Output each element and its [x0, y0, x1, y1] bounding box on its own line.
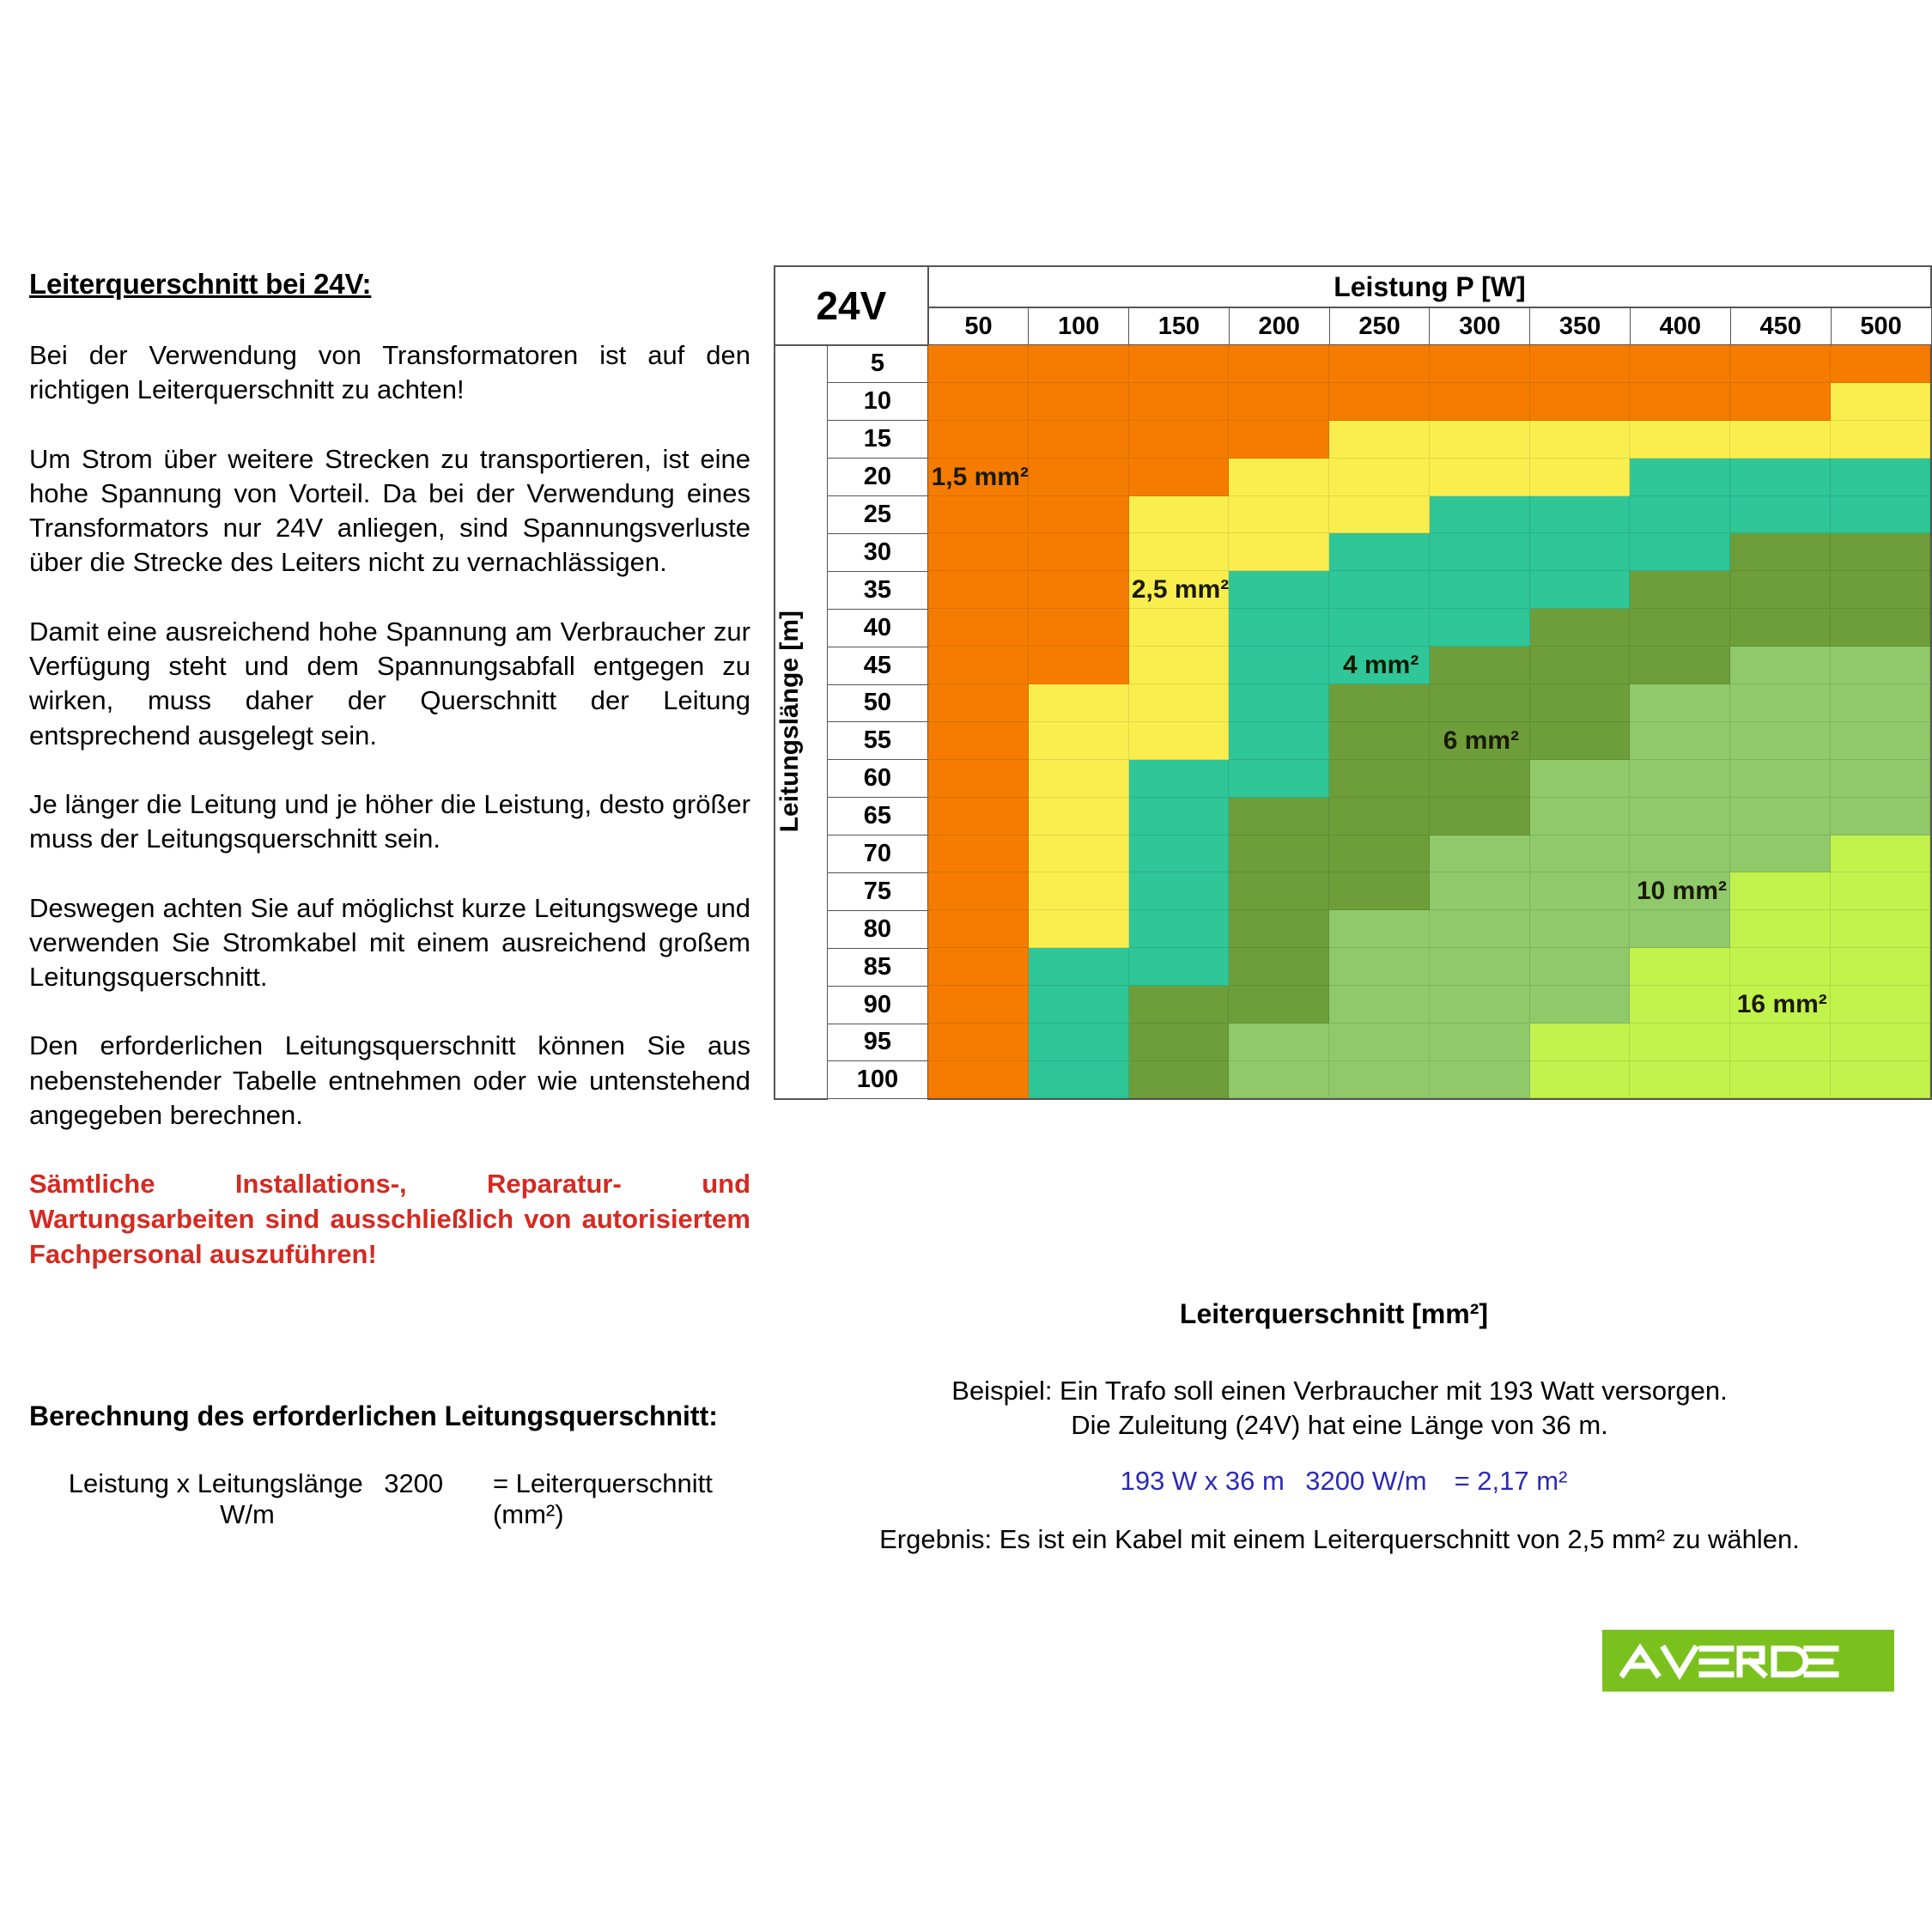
matrix-cell	[928, 571, 1029, 609]
matrix-cell	[1530, 345, 1631, 383]
matrix-cell	[1730, 383, 1831, 421]
example-line-1: Beispiel: Ein Trafo soll einen Verbrauch…	[859, 1374, 1820, 1408]
length-row-header: 50	[827, 684, 928, 722]
matrix-cell	[928, 345, 1029, 383]
matrix-cell	[1430, 798, 1530, 835]
matrix-cell	[1229, 1061, 1329, 1099]
matrix-cell	[928, 986, 1029, 1024]
power-header-title: Leistung P [W]	[928, 266, 1931, 307]
matrix-cell	[928, 910, 1029, 948]
matrix-cell	[1831, 872, 1931, 910]
matrix-cell	[1229, 496, 1329, 534]
voltage-header: 24V	[775, 266, 928, 345]
matrix-cell	[1329, 383, 1430, 421]
matrix-cell	[1831, 798, 1931, 835]
matrix-cell	[1530, 872, 1631, 910]
length-row-header: 45	[827, 647, 928, 684]
table-row: 85	[775, 948, 1931, 986]
matrix-cell	[1630, 684, 1730, 722]
matrix-cell	[1329, 533, 1430, 571]
matrix-cell	[928, 647, 1029, 684]
matrix-cell	[1229, 684, 1329, 722]
matrix-cell	[928, 684, 1029, 722]
matrix-cell	[1129, 383, 1230, 421]
matrix-cell	[1730, 421, 1831, 459]
matrix-cell	[1029, 609, 1129, 647]
matrix-cell	[1730, 760, 1831, 798]
matrix-cell	[1029, 345, 1129, 383]
matrix-cell	[1430, 496, 1530, 534]
matrix-cell	[1329, 459, 1430, 496]
matrix-cell	[1730, 948, 1831, 986]
matrix-cell	[928, 1061, 1029, 1099]
power-column-header: 500	[1831, 307, 1931, 345]
matrix-cell	[1430, 986, 1530, 1024]
matrix-cell	[1129, 609, 1230, 647]
length-row-header: 40	[827, 609, 928, 647]
matrix-cell	[928, 1024, 1029, 1061]
matrix-cell	[1630, 459, 1730, 496]
example-result-text: Ergebnis: Es ist ein Kabel mit einem Lei…	[859, 1522, 1820, 1557]
table-row: 95	[775, 1024, 1931, 1061]
matrix-cell	[1329, 910, 1430, 948]
matrix-cell	[928, 421, 1029, 459]
matrix-cell	[1430, 459, 1530, 496]
matrix-cell	[1029, 533, 1129, 571]
matrix-cell	[1229, 571, 1329, 609]
paragraph-6: Den erforderlichen Leitungsquerschnitt k…	[29, 1029, 750, 1133]
matrix-cell	[1229, 345, 1329, 383]
matrix-cell	[1229, 647, 1329, 684]
table-row: 454 mm²	[775, 647, 1931, 684]
matrix-cell	[1730, 1061, 1831, 1099]
matrix-cell	[1831, 345, 1931, 383]
matrix-cell	[1329, 1061, 1430, 1099]
matrix-cell	[928, 798, 1029, 835]
matrix-cell	[1229, 798, 1329, 835]
matrix-cell	[1329, 986, 1430, 1024]
matrix-cell	[1129, 910, 1230, 948]
matrix-cell	[1831, 647, 1931, 684]
matrix-cell	[1430, 609, 1530, 647]
power-column-header: 150	[1129, 307, 1230, 345]
power-column-header: 250	[1329, 307, 1430, 345]
fraction-numerator: Leistung x Leitungslänge	[60, 1468, 372, 1502]
matrix-cell	[1029, 948, 1129, 986]
table-row: 352,5 mm²	[775, 571, 1931, 609]
matrix-cell	[1730, 684, 1831, 722]
length-row-header: 80	[827, 910, 928, 948]
matrix-cell: 10 mm²	[1630, 872, 1730, 910]
matrix-cell	[1630, 647, 1730, 684]
fraction: Leistung x Leitungslänge 3200 W/m	[29, 1468, 474, 1530]
matrix-cell	[1329, 684, 1430, 722]
table-row: 70	[775, 835, 1931, 873]
matrix-cell	[1029, 798, 1129, 835]
table-row: 15	[775, 421, 1931, 459]
matrix-cell	[1229, 459, 1329, 496]
matrix-cell	[1530, 798, 1631, 835]
matrix-cell	[1430, 835, 1530, 873]
cable-cross-section-table: 24VLeistung P [W]50100150200250300350400…	[774, 265, 1932, 1100]
matrix-cell	[1630, 345, 1730, 383]
matrix-cell	[1229, 533, 1329, 571]
matrix-cell	[1530, 1061, 1631, 1099]
matrix-cell	[1129, 835, 1230, 873]
matrix-cell	[1530, 948, 1631, 986]
matrix-cell	[1730, 571, 1831, 609]
matrix-cell	[1530, 684, 1631, 722]
matrix-cell	[1831, 760, 1931, 798]
calculation-block: Berechnung des erforderlichen Leitungsqu…	[29, 1400, 785, 1530]
matrix-cell	[1530, 383, 1631, 421]
matrix-cell: 1,5 mm²	[928, 459, 1029, 496]
matrix-cell	[928, 609, 1029, 647]
matrix-cell	[1630, 948, 1730, 986]
matrix-cell	[1630, 609, 1730, 647]
matrix-cell	[1831, 1024, 1931, 1061]
matrix-cell	[1831, 609, 1931, 647]
length-row-header: 90	[827, 986, 928, 1024]
length-row-header: 55	[827, 722, 928, 760]
length-row-header: 30	[827, 533, 928, 571]
table-row: 50	[775, 684, 1931, 722]
matrix-cell	[1831, 835, 1931, 873]
power-column-header: 200	[1229, 307, 1329, 345]
matrix-cell	[1831, 684, 1931, 722]
matrix-cell	[1630, 1061, 1730, 1099]
matrix-cell	[1329, 1024, 1430, 1061]
matrix-cell	[928, 872, 1029, 910]
matrix-cell	[1831, 383, 1931, 421]
matrix-cell	[1530, 421, 1631, 459]
matrix-cell	[1630, 533, 1730, 571]
example-formula-result: = 2,17 m²	[1436, 1466, 1568, 1497]
matrix-cell	[1630, 798, 1730, 835]
matrix-cell	[1730, 459, 1831, 496]
page-title: Leiterquerschnitt bei 24V:	[29, 268, 750, 301]
matrix-cell: 16 mm²	[1730, 986, 1831, 1024]
matrix-cell	[1630, 383, 1730, 421]
matrix-cell	[1831, 910, 1931, 948]
power-column-header: 350	[1530, 307, 1631, 345]
table-row: 100	[775, 1061, 1931, 1099]
matrix-cell	[1730, 910, 1831, 948]
calculation-formula: Leistung x Leitungslänge 3200 W/m = Leit…	[29, 1468, 785, 1530]
matrix-cell	[1229, 383, 1329, 421]
matrix-cell	[1129, 1024, 1230, 1061]
matrix-cell	[1530, 609, 1631, 647]
matrix-cell	[1831, 1061, 1931, 1099]
matrix-cell	[1831, 533, 1931, 571]
matrix-cell: 4 mm²	[1329, 647, 1430, 684]
length-row-header: 20	[827, 459, 928, 496]
paragraph-5: Deswegen achten Sie auf möglichst kurze …	[29, 891, 750, 995]
matrix-table: 24VLeistung P [W]50100150200250300350400…	[774, 265, 1932, 1100]
matrix-cell	[928, 722, 1029, 760]
table-row: 25	[775, 496, 1931, 534]
matrix-cell	[1129, 798, 1230, 835]
matrix-cell	[1329, 872, 1430, 910]
length-row-header: 35	[827, 571, 928, 609]
matrix-cell	[1029, 760, 1129, 798]
length-row-header: 25	[827, 496, 928, 534]
table-row: 80	[775, 910, 1931, 948]
matrix-cell	[1029, 1024, 1129, 1061]
matrix-cell	[1730, 835, 1831, 873]
y-axis-label-text: Leitungslänge [m]	[775, 611, 827, 832]
matrix-cell	[1730, 647, 1831, 684]
matrix-cell	[928, 835, 1029, 873]
matrix-cell	[1129, 948, 1230, 986]
length-row-header: 70	[827, 835, 928, 873]
calculation-title: Berechnung des erforderlichen Leitungsqu…	[29, 1400, 785, 1432]
matrix-cell	[1229, 872, 1329, 910]
matrix-cell	[1229, 835, 1329, 873]
averde-wordmark-icon	[1619, 1642, 1877, 1680]
matrix-cell	[928, 533, 1029, 571]
length-row-header: 10	[827, 383, 928, 421]
matrix-cell	[1329, 948, 1430, 986]
matrix-cell	[1029, 383, 1129, 421]
matrix-cell	[1831, 986, 1931, 1024]
matrix-cell	[1129, 684, 1230, 722]
matrix-cell	[1430, 345, 1530, 383]
power-column-header: 400	[1630, 307, 1730, 345]
matrix-cell	[1029, 496, 1129, 534]
matrix-cell	[1831, 571, 1931, 609]
matrix-cell	[1029, 722, 1129, 760]
matrix-cell	[1430, 421, 1530, 459]
matrix-cell	[1430, 1061, 1530, 1099]
table-row: 7510 mm²	[775, 872, 1931, 910]
matrix-cell	[1831, 496, 1931, 534]
matrix-cell	[928, 383, 1029, 421]
matrix-cell	[1029, 835, 1129, 873]
matrix-cell	[1630, 910, 1730, 948]
matrix-cell	[1329, 609, 1430, 647]
matrix-cell	[1831, 722, 1931, 760]
example-fraction: 193 W x 36 m 3200 W/m	[1112, 1466, 1436, 1497]
table-row: 60	[775, 760, 1931, 798]
power-column-header: 300	[1430, 307, 1530, 345]
matrix-cell	[1329, 421, 1430, 459]
matrix-cell	[1530, 835, 1631, 873]
matrix-cell	[1430, 872, 1530, 910]
matrix-cell	[1430, 948, 1530, 986]
matrix-cell	[1630, 1024, 1730, 1061]
matrix-cell	[1229, 1024, 1329, 1061]
matrix-cell	[1530, 986, 1631, 1024]
matrix-cell	[1831, 421, 1931, 459]
matrix-cell	[1129, 872, 1230, 910]
example-formula: 193 W x 36 m 3200 W/m = 2,17 m²	[859, 1466, 1820, 1497]
matrix-cell	[1029, 986, 1129, 1024]
matrix-cell	[1229, 986, 1329, 1024]
matrix-cell	[1129, 722, 1230, 760]
matrix-cell	[1430, 383, 1530, 421]
intro-text-column: Leiterquerschnitt bei 24V: Bei der Verwe…	[29, 268, 750, 1273]
matrix-cell	[1430, 760, 1530, 798]
matrix-cell	[1530, 647, 1631, 684]
matrix-cell	[1229, 722, 1329, 760]
matrix-cell	[1730, 872, 1831, 910]
matrix-cell	[1430, 684, 1530, 722]
matrix-cell	[1029, 647, 1129, 684]
power-column-header: 100	[1029, 307, 1129, 345]
matrix-cell	[1229, 760, 1329, 798]
matrix-cell	[1329, 798, 1430, 835]
matrix-cell	[1430, 647, 1530, 684]
matrix-cell	[1129, 459, 1230, 496]
matrix-cell	[1329, 760, 1430, 798]
matrix-cell	[1630, 835, 1730, 873]
matrix-cell	[928, 760, 1029, 798]
matrix-cell	[1430, 1024, 1530, 1061]
matrix-cell	[1730, 533, 1831, 571]
matrix-cell	[1029, 872, 1129, 910]
table-row: 556 mm²	[775, 722, 1931, 760]
matrix-cell	[1730, 798, 1831, 835]
safety-warning-text: Sämtliche Installations-, Reparatur- und…	[29, 1167, 750, 1273]
paragraph-2: Um Strom über weitere Strecken zu transp…	[29, 442, 750, 580]
table-row: 201,5 mm²	[775, 459, 1931, 496]
matrix-cell	[1630, 421, 1730, 459]
matrix-cell	[1630, 571, 1730, 609]
table-row: 30	[775, 533, 1931, 571]
matrix-cell	[1029, 684, 1129, 722]
matrix-cell	[1329, 496, 1430, 534]
table-row: 10	[775, 383, 1931, 421]
matrix-cell	[1430, 533, 1530, 571]
example-fraction-numerator: 193 W x 36 m	[1112, 1466, 1293, 1499]
matrix-cell	[1129, 345, 1230, 383]
matrix-cell	[1129, 647, 1230, 684]
example-fraction-denominator: 3200 W/m	[1297, 1461, 1435, 1496]
matrix-cell	[1129, 533, 1230, 571]
power-column-header: 450	[1730, 307, 1831, 345]
length-row-header: 100	[827, 1061, 928, 1099]
matrix-cell	[1530, 1024, 1631, 1061]
y-axis-label: Leitungslänge [m]	[775, 345, 827, 1099]
matrix-cell	[1329, 835, 1430, 873]
matrix-cell	[1329, 345, 1430, 383]
matrix-cell: 2,5 mm²	[1129, 571, 1230, 609]
matrix-cell	[1029, 459, 1129, 496]
length-row-header: 60	[827, 760, 928, 798]
matrix-cell	[1730, 722, 1831, 760]
matrix-cell	[1129, 1061, 1230, 1099]
matrix-cell	[1630, 496, 1730, 534]
matrix-cell	[1530, 722, 1631, 760]
averde-logo	[1602, 1630, 1894, 1692]
matrix-cell	[928, 496, 1029, 534]
matrix-cell	[1530, 459, 1631, 496]
matrix-cell	[1730, 609, 1831, 647]
length-row-header: 95	[827, 1024, 928, 1061]
matrix-cell	[1630, 722, 1730, 760]
example-block: Beispiel: Ein Trafo soll einen Verbrauch…	[859, 1374, 1820, 1557]
matrix-cell	[1129, 760, 1230, 798]
matrix-cell	[1029, 571, 1129, 609]
length-row-header: 65	[827, 798, 928, 835]
x-axis-label: Leiterquerschnitt [mm²]	[774, 1298, 1894, 1330]
matrix-cell	[1730, 496, 1831, 534]
matrix-cell	[1229, 948, 1329, 986]
matrix-cell	[1029, 910, 1129, 948]
matrix-cell	[1029, 421, 1129, 459]
table-row: 9016 mm²	[775, 986, 1931, 1024]
matrix-cell	[1530, 496, 1631, 534]
matrix-cell	[1630, 986, 1730, 1024]
paragraph-4: Je länger die Leitung und je höher die L…	[29, 787, 750, 857]
paragraph-3: Damit eine ausreichend hohe Spannung am …	[29, 615, 750, 753]
matrix-cell	[1530, 533, 1631, 571]
matrix-cell	[1430, 910, 1530, 948]
matrix-cell	[1129, 421, 1230, 459]
matrix-cell	[1831, 948, 1931, 986]
matrix-cell	[1029, 1061, 1129, 1099]
matrix-cell	[1329, 722, 1430, 760]
matrix-cell	[928, 948, 1029, 986]
matrix-cell	[1229, 421, 1329, 459]
table-row: 65	[775, 798, 1931, 835]
matrix-cell	[1530, 910, 1631, 948]
length-row-header: 75	[827, 872, 928, 910]
matrix-cell	[1430, 571, 1530, 609]
matrix-cell	[1129, 496, 1230, 534]
matrix-cell	[1229, 609, 1329, 647]
table-row: Leitungslänge [m]5	[775, 345, 1931, 383]
matrix-cell	[1129, 986, 1230, 1024]
length-row-header: 85	[827, 948, 928, 986]
matrix-cell: 6 mm²	[1430, 722, 1530, 760]
matrix-cell	[1730, 345, 1831, 383]
example-line-2: Die Zuleitung (24V) hat eine Länge von 3…	[859, 1408, 1820, 1443]
matrix-cell	[1831, 459, 1931, 496]
length-row-header: 15	[827, 421, 928, 459]
table-row: 40	[775, 609, 1931, 647]
matrix-cell	[1530, 571, 1631, 609]
matrix-cell	[1329, 571, 1430, 609]
formula-result-label: = Leiterquerschnitt (mm²)	[474, 1468, 785, 1530]
paragraph-1: Bei der Verwendung von Transformatoren i…	[29, 338, 750, 408]
matrix-cell	[1630, 760, 1730, 798]
length-row-header: 5	[827, 345, 928, 383]
matrix-cell	[1229, 910, 1329, 948]
matrix-cell	[1530, 760, 1631, 798]
matrix-cell	[1730, 1024, 1831, 1061]
power-column-header: 50	[928, 307, 1029, 345]
